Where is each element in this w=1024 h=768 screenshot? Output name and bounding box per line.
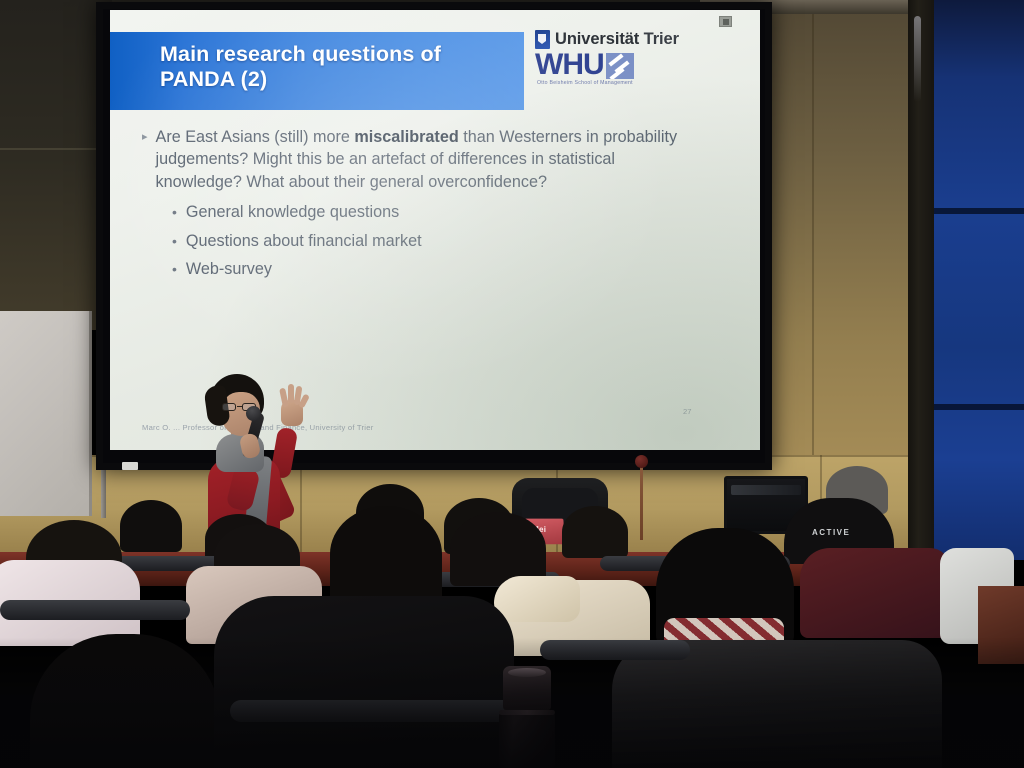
audience-head <box>562 506 628 558</box>
blue-panel-seam-2 <box>928 404 1024 410</box>
sub-bullet-label: General knowledge questions <box>186 198 399 227</box>
blue-panel-seam-1 <box>928 208 1024 214</box>
audience-head <box>330 506 442 602</box>
main-bullet-text: Are East Asians (still) more miscalibrat… <box>156 126 702 193</box>
right-upper-wall <box>758 0 930 470</box>
slide-body: ▸ Are East Asians (still) more miscalibr… <box>142 126 702 284</box>
main-bullet-part1: Are East Asians (still) more <box>156 128 355 146</box>
sub-bullet-label: Web-survey <box>186 255 272 284</box>
jacket-brand-text: ACTIVE <box>812 528 850 537</box>
slide-title: Main research questions of PANDA (2) <box>160 42 540 92</box>
sub-bullet-item: • Questions about financial market <box>172 227 702 256</box>
audience-head <box>120 500 182 552</box>
slide-page-number: 27 <box>683 407 691 416</box>
blue-wall-panel <box>928 0 1024 560</box>
slide-corner-marker-icon <box>719 16 732 27</box>
fur-trim <box>494 576 580 622</box>
sub-bullet-label: Questions about financial market <box>186 227 422 256</box>
whu-acronym: WHU <box>535 51 604 79</box>
whu-mark-icon <box>606 53 634 79</box>
sub-bullet-item: • General knowledge questions <box>172 198 702 227</box>
sub-bullet-item: • Web-survey <box>172 255 702 284</box>
triangle-bullet-icon: ▸ <box>142 126 148 193</box>
dot-bullet-icon: • <box>172 198 177 227</box>
university-trier-logo: Universität Trier <box>535 30 715 49</box>
dot-bullet-icon: • <box>172 255 177 284</box>
whu-logo: WHU <box>535 51 715 79</box>
university-name-light: Trier <box>644 30 679 48</box>
audience-red-jacket <box>800 548 950 638</box>
dark-pillar <box>908 0 934 575</box>
desk-microphone-stand <box>640 462 643 540</box>
pillar-highlight <box>914 16 921 102</box>
lecture-hall-photo: Main research questions of PANDA (2) Uni… <box>0 0 1024 768</box>
desk-microphone-head-icon <box>635 455 648 468</box>
university-name-bold: Universität <box>555 30 639 48</box>
screen-frame-label <box>122 462 138 470</box>
seat-rail <box>0 600 190 620</box>
slide-title-line-2: PANDA (2) <box>160 67 540 92</box>
foreground-shadow <box>0 638 1024 768</box>
dot-bullet-icon: • <box>172 227 177 256</box>
whiteboard <box>0 311 92 516</box>
logo-block: Universität Trier WHU Otto Beisheim Scho… <box>535 30 715 86</box>
slide-title-line-1: Main research questions of <box>160 42 540 67</box>
university-crest-icon <box>535 30 550 49</box>
audience-head <box>450 512 546 586</box>
presenter-raised-hand <box>278 384 306 426</box>
wall-seam <box>812 0 814 470</box>
sub-bullet-list: • General knowledge questions • Question… <box>172 198 702 284</box>
whu-subtitle: Otto Beisheim School of Management <box>537 80 715 86</box>
main-bullet-emphasis: miscalibrated <box>354 128 458 146</box>
main-bullet: ▸ Are East Asians (still) more miscalibr… <box>142 126 702 193</box>
university-name: Universität Trier <box>555 30 679 49</box>
